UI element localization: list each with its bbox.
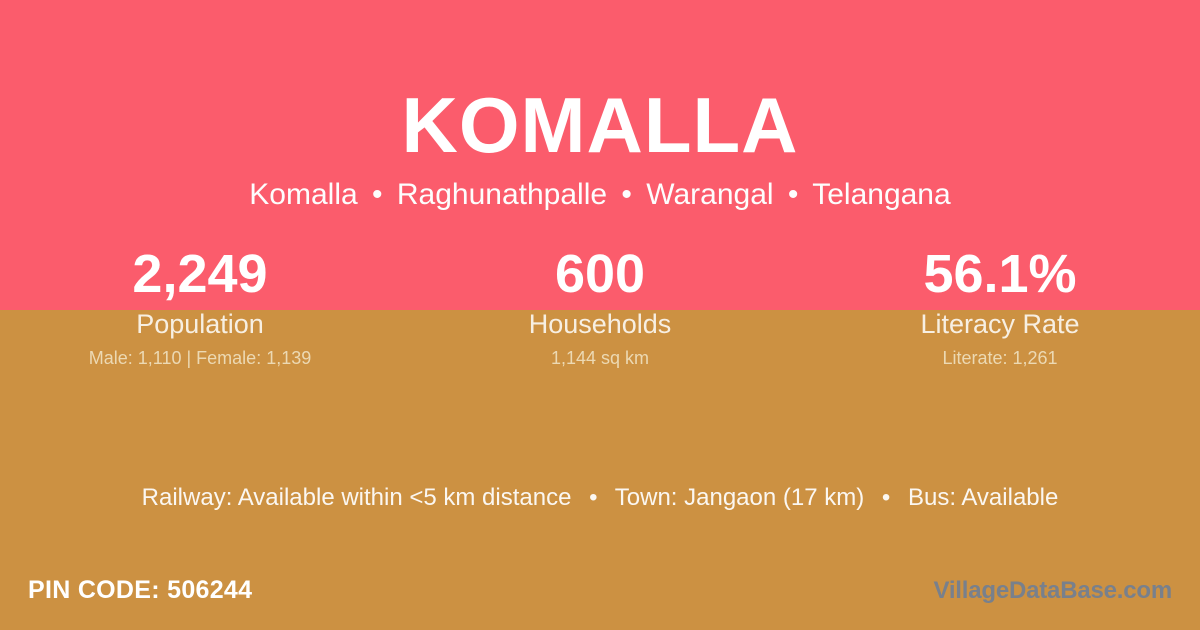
amenity-town: Town: Jangaon (17 km) (615, 484, 864, 511)
stat-label: Literacy Rate (800, 307, 1200, 341)
stat-value: 2,249 (0, 243, 400, 305)
amenities-row: Railway: Available within <5 km distance… (0, 481, 1200, 515)
stat-sub: 1,144 sq km (400, 346, 800, 370)
amenity-separator: • (871, 484, 901, 511)
breadcrumb-item-village: Komalla (249, 178, 357, 211)
amenity-bus: Bus: Available (908, 484, 1058, 511)
stat-literacy-rate: 56.1% Literacy Rate Literate: 1,261 (800, 243, 1200, 370)
hero-section: KOMALLA Komalla • Raghunathpalle • Waran… (0, 0, 1200, 214)
breadcrumb-separator: • (782, 178, 805, 211)
amenity-separator: • (578, 484, 608, 511)
stats-row: 2,249 Population Male: 1,110 | Female: 1… (0, 243, 1200, 370)
stat-value: 600 (400, 243, 800, 305)
stat-sub: Male: 1,110 | Female: 1,139 (0, 346, 400, 370)
stat-value: 56.1% (800, 243, 1200, 305)
stat-population: 2,249 Population Male: 1,110 | Female: 1… (0, 243, 400, 370)
breadcrumb-separator: • (366, 178, 389, 211)
site-brand-logo: VillageDataBase.com (933, 572, 1172, 610)
amenity-railway: Railway: Available within <5 km distance (142, 484, 572, 511)
breadcrumb-item-block: Raghunathpalle (397, 178, 607, 211)
breadcrumb: Komalla • Raghunathpalle • Warangal • Te… (0, 168, 1200, 214)
breadcrumb-separator: • (615, 178, 638, 211)
breadcrumb-item-state: Telangana (812, 178, 950, 211)
footer: PIN CODE: 506244 VillageDataBase.com (0, 571, 1200, 621)
stat-label: Households (400, 307, 800, 341)
stat-households: 600 Households 1,144 sq km (400, 243, 800, 370)
stat-sub: Literate: 1,261 (800, 346, 1200, 370)
page-title: KOMALLA (0, 0, 1200, 168)
village-info-card: KOMALLA Komalla • Raghunathpalle • Waran… (0, 0, 1200, 630)
breadcrumb-item-district: Warangal (646, 178, 773, 211)
stat-label: Population (0, 307, 400, 341)
pin-code: PIN CODE: 506244 (28, 571, 252, 609)
